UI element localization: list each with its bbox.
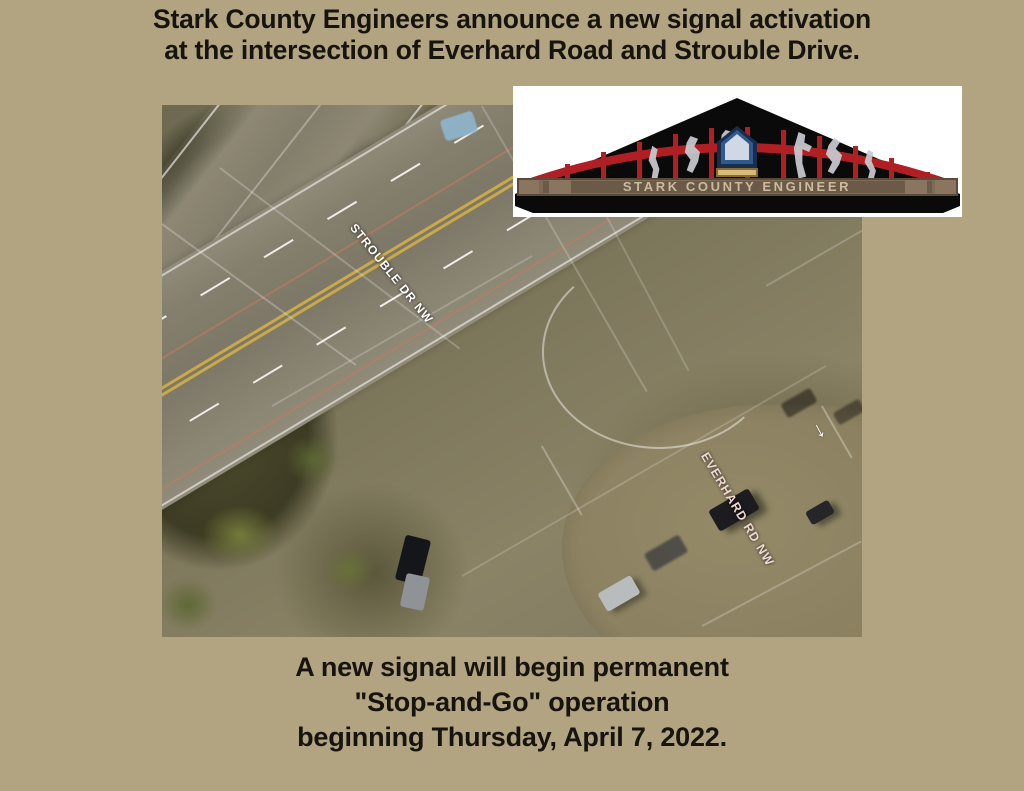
announcement-text: A new signal will begin permanent "Stop-… <box>0 650 1024 755</box>
footer-line-3: beginning Thursday, April 7, 2022. <box>0 720 1024 755</box>
logo-artwork: STARK COUNTY ENGINEER <box>513 86 962 217</box>
stark-county-engineer-logo: STARK COUNTY ENGINEER <box>513 86 962 217</box>
curb-radius-nw <box>542 255 776 449</box>
logo-agency-name: STARK COUNTY ENGINEER <box>623 179 851 194</box>
headline-line-1: Stark County Engineers announce a new si… <box>0 4 1024 35</box>
footer-line-1: A new signal will begin permanent <box>0 650 1024 685</box>
footer-line-2: "Stop-and-Go" operation <box>0 685 1024 720</box>
announcement-graphic: Stark County Engineers announce a new si… <box>0 0 1024 791</box>
headline-line-2: at the intersection of Everhard Road and… <box>0 35 1024 66</box>
page-title: Stark County Engineers announce a new si… <box>0 4 1024 66</box>
